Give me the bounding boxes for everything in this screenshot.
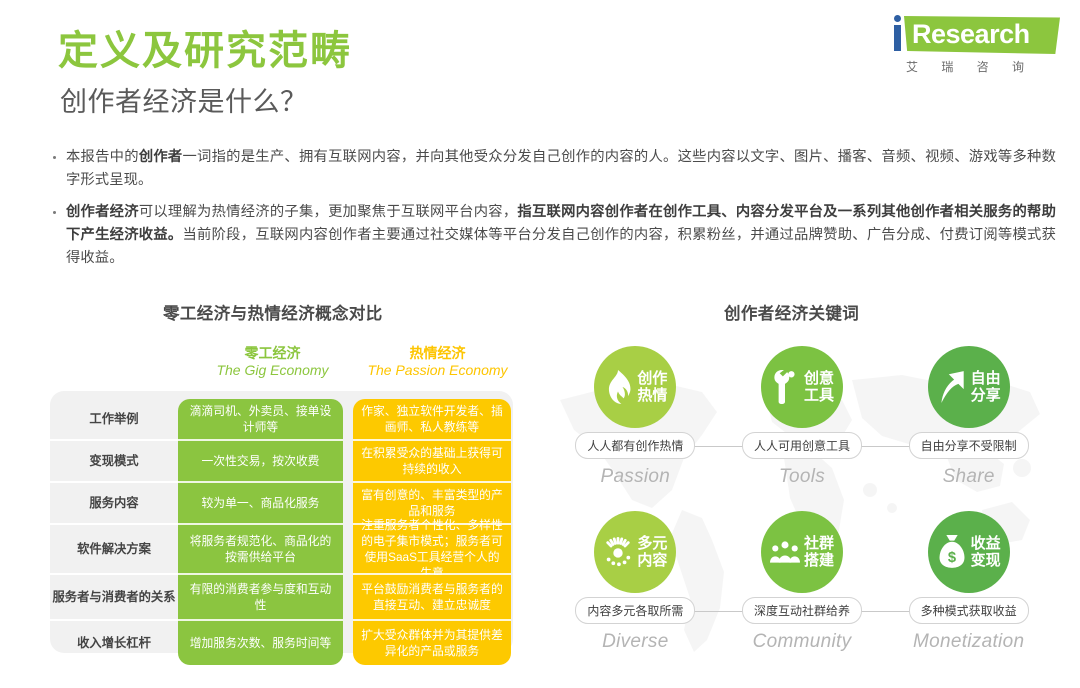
page-subtitle: 创作者经济是什么？ — [60, 80, 308, 119]
keyword-item[interactable]: 多元内容内容多元各取所需Diverse — [552, 505, 719, 670]
table-row: 工作举例滴滴司机、外卖员、接单设计师等作家、独立软件开发者、插画师、私人教练等 — [50, 399, 501, 441]
slide: Research 艾 瑞 咨 询 定义及研究范畴 创作者经济是什么？ 本报告中的… — [0, 0, 1080, 688]
table-row: 服务者与消费者的关系有限的消费者参与度和互动性平台鼓励消费者与服务者的直接互动、… — [50, 575, 501, 621]
cell-gig: 滴滴司机、外卖员、接单设计师等 — [178, 399, 343, 441]
row-label: 服务者与消费者的关系 — [50, 575, 178, 621]
logo-subtitle: 艾 瑞 咨 询 — [906, 58, 1034, 75]
keyword-label: 社群搭建 — [804, 535, 834, 569]
cell-gig: 有限的消费者参与度和互动性 — [178, 575, 343, 621]
column-header-passion-en: The Passion Economy — [350, 362, 525, 379]
burst-icon — [603, 535, 633, 569]
keyword-circle[interactable]: 创意工具 — [761, 346, 843, 428]
table-row: 变现模式一次性交易，按次收费在积累受众的基础上获得可持续的收入 — [50, 441, 501, 483]
keyword-item[interactable]: 社群搭建深度互动社群给养Community — [719, 505, 886, 670]
keyword-pill[interactable]: 内容多元各取所需 — [575, 597, 695, 624]
iresearch-logo: Research 艾 瑞 咨 询 — [890, 14, 1062, 78]
row-label: 工作举例 — [50, 399, 178, 441]
page-title: 定义及研究范畴 — [58, 18, 352, 76]
keyword-label: 创作热情 — [637, 370, 667, 404]
column-header-gig-cn: 零工经济 — [190, 345, 355, 362]
keyword-circle[interactable]: 社群搭建 — [761, 511, 843, 593]
comparison-section-title: 零工经济与热情经济概念对比 — [163, 300, 383, 324]
keyword-english-label: Share — [943, 466, 995, 488]
keyword-pill[interactable]: 自由分享不受限制 — [909, 432, 1029, 459]
keyword-item[interactable]: 自由分享自由分享不受限制Share — [885, 340, 1052, 505]
row-label: 软件解决方案 — [50, 525, 178, 575]
keyword-item[interactable]: 创作热情人人都有创作热情Passion — [552, 340, 719, 505]
bullet-item: 本报告中的创作者一词指的是生产、拥有互联网内容，并向其他受众分发自己创作的内容的… — [52, 146, 1056, 192]
table-row: 收入增长杠杆增加服务次数、服务时间等扩大受众群体并为其提供差异化的产品或服务 — [50, 621, 501, 665]
comparison-header: 零工经济 The Gig Economy 热情经济 The Passion Ec… — [50, 345, 513, 391]
keyword-circle[interactable]: 多元内容 — [594, 511, 676, 593]
wrench-icon — [770, 370, 800, 404]
keyword-label: 自由分享 — [971, 370, 1001, 404]
column-header-gig-en: The Gig Economy — [190, 362, 355, 379]
cell-gig: 较为单一、商品化服务 — [178, 483, 343, 525]
keyword-english-label: Community — [753, 631, 852, 653]
keyword-pill[interactable]: 人人都有创作热情 — [575, 432, 695, 459]
logo-wordmark: Research — [912, 19, 1030, 49]
logo-mark: Research — [890, 14, 1062, 56]
keyword-english-label: Monetization — [913, 631, 1024, 653]
svg-text:$: $ — [948, 550, 956, 566]
cell-gig: 将服务者规范化、商品化的按需供给平台 — [178, 525, 343, 575]
keyword-label: 创意工具 — [804, 370, 834, 404]
keyword-grid: 创作热情人人都有创作热情Passion创意工具人人可用创意工具Tools自由分享… — [552, 340, 1052, 670]
keyword-pill[interactable]: 多种模式获取收益 — [909, 597, 1029, 624]
row-label: 服务内容 — [50, 483, 178, 525]
table-row: 软件解决方案将服务者规范化、商品化的按需供给平台注重服务者个性化、多样性的电子集… — [50, 525, 501, 575]
keyword-english-label: Passion — [600, 466, 670, 488]
keyword-pill[interactable]: 人人可用创意工具 — [742, 432, 862, 459]
keyword-circle[interactable]: 创作热情 — [594, 346, 676, 428]
comparison-panel: 工作举例滴滴司机、外卖员、接单设计师等作家、独立软件开发者、插画师、私人教练等变… — [50, 391, 513, 653]
body-bullets: 本报告中的创作者一词指的是生产、拥有互联网内容，并向其他受众分发自己创作的内容的… — [52, 146, 1056, 279]
keyword-pill[interactable]: 深度互动社群给养 — [742, 597, 862, 624]
keyword-english-label: Tools — [779, 466, 825, 488]
flame-icon — [603, 370, 633, 404]
logo-i-dot — [894, 15, 901, 22]
cell-passion: 扩大受众群体并为其提供差异化的产品或服务 — [353, 621, 511, 665]
keyword-label: 收益变现 — [971, 535, 1001, 569]
cell-passion: 在积累受众的基础上获得可持续的收入 — [353, 441, 511, 483]
cell-gig: 一次性交易，按次收费 — [178, 441, 343, 483]
moneybag-icon: $ — [937, 535, 967, 569]
keyword-label: 多元内容 — [637, 535, 667, 569]
row-label: 变现模式 — [50, 441, 178, 483]
keyword-english-label: Diverse — [602, 631, 669, 653]
keyword-diagram: 创作热情人人都有创作热情Passion创意工具人人可用创意工具Tools自由分享… — [552, 340, 1052, 670]
comparison-table: 零工经济 The Gig Economy 热情经济 The Passion Ec… — [50, 345, 513, 653]
row-label: 收入增长杠杆 — [50, 621, 178, 665]
keyword-item[interactable]: 创意工具人人可用创意工具Tools — [719, 340, 886, 505]
column-header-passion-cn: 热情经济 — [350, 345, 525, 362]
bullet-item: 创作者经济可以理解为热情经济的子集，更加聚焦于互联网平台内容，指互联网内容创作者… — [52, 201, 1056, 270]
keywords-section-title: 创作者经济关键词 — [724, 300, 859, 324]
keyword-circle[interactable]: 自由分享 — [928, 346, 1010, 428]
cell-passion: 作家、独立软件开发者、插画师、私人教练等 — [353, 399, 511, 441]
arrow-up-icon — [937, 370, 967, 404]
cell-gig: 增加服务次数、服务时间等 — [178, 621, 343, 665]
keyword-item[interactable]: $收益变现多种模式获取收益Monetization — [885, 505, 1052, 670]
cell-passion: 注重服务者个性化、多样性的电子集市模式；服务者可使用SaaS工具经营个人的生意 — [353, 525, 511, 575]
bullet-text-2: 创作者经济可以理解为热情经济的子集，更加聚焦于互联网平台内容，指互联网内容创作者… — [66, 201, 1056, 270]
bullet-text-1: 本报告中的创作者一词指的是生产、拥有互联网内容，并向其他受众分发自己创作的内容的… — [66, 146, 1056, 192]
column-header-gig: 零工经济 The Gig Economy — [190, 345, 355, 379]
cell-passion: 平台鼓励消费者与服务者的直接互动、建立忠诚度 — [353, 575, 511, 621]
logo-i-stem — [894, 25, 901, 51]
community-icon — [770, 535, 800, 569]
keyword-circle[interactable]: $收益变现 — [928, 511, 1010, 593]
column-header-passion: 热情经济 The Passion Economy — [350, 345, 525, 379]
